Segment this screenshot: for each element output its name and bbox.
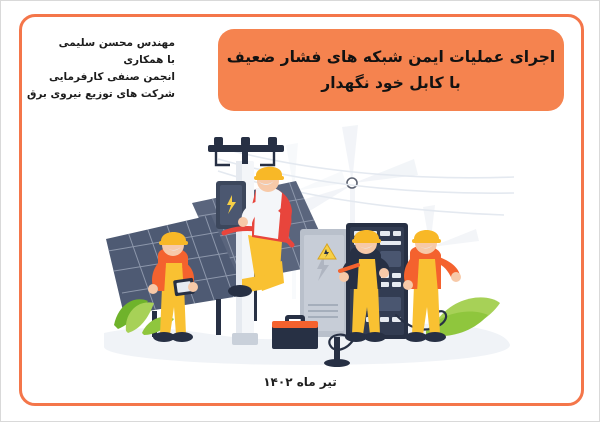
byline-line-3: انجمن صنفی کارفرمایی (21, 69, 175, 86)
illustration (96, 119, 516, 371)
byline-line-2: با همکاری (21, 52, 175, 69)
byline-line-1: مهندس محسن سلیمی (21, 35, 175, 52)
byline-line-4: شرکت های توزیع نیروی برق (21, 86, 175, 103)
title-banner: اجرای عملیات ایمن شبکه های فشار ضعیف با … (218, 29, 564, 111)
date-label: تیر ماه ۱۴۰۲ (1, 375, 599, 389)
title-line-2: با کابل خود نگهدار (321, 70, 460, 96)
byline-block: مهندس محسن سلیمی با همکاری انجمن صنفی کا… (21, 35, 175, 103)
slide-canvas: مهندس محسن سلیمی با همکاری انجمن صنفی کا… (0, 0, 600, 422)
title-line-1: اجرای عملیات ایمن شبکه های فشار ضعیف (227, 44, 555, 70)
